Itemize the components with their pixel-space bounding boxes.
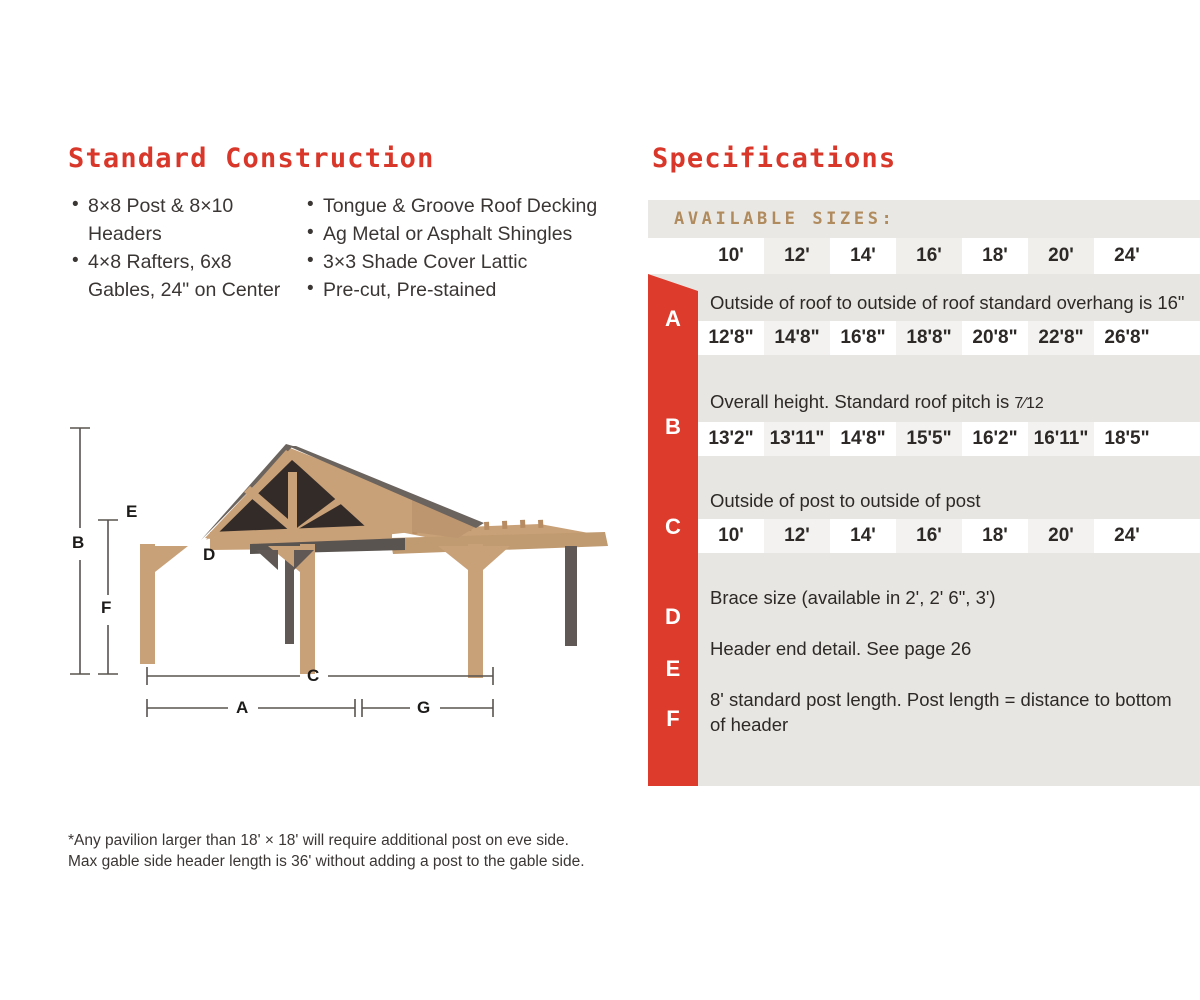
list-item: Tongue & Groove Roof Decking bbox=[305, 192, 625, 220]
row-letter-f: F bbox=[648, 706, 698, 732]
size-header-cell: 20' bbox=[1028, 238, 1094, 274]
row-description-b: Overall height. Standard roof pitch is 7… bbox=[698, 389, 1200, 416]
value-cell: 14' bbox=[830, 519, 896, 553]
available-sizes-label: AVAILABLE SIZES: bbox=[674, 209, 895, 229]
row-description-f: 8' standard post length. Post length = d… bbox=[698, 687, 1200, 737]
value-cell: 26'8" bbox=[1094, 321, 1160, 355]
spec-sheet-page: Standard Construction 8×8 Post & 8×10 He… bbox=[0, 0, 1200, 1000]
value-tail bbox=[1160, 321, 1200, 355]
post-right bbox=[468, 544, 483, 678]
size-header-row: 10' 12' 14' 16' 18' 20' 24' bbox=[648, 238, 1200, 274]
dimension-label-d: D bbox=[203, 545, 215, 565]
post-left bbox=[140, 544, 155, 664]
value-cell: 20'8" bbox=[962, 321, 1028, 355]
value-cell: 22'8" bbox=[1028, 321, 1094, 355]
value-cell: 16'2" bbox=[962, 422, 1028, 456]
value-cell: 16'8" bbox=[830, 321, 896, 355]
value-cell: 18' bbox=[962, 519, 1028, 553]
row-description-c: Outside of post to outside of post bbox=[698, 488, 1200, 513]
construction-list-right: Tongue & Groove Roof Decking Ag Metal or… bbox=[305, 192, 625, 304]
row-description-a: Outside of roof to outside of roof stand… bbox=[698, 290, 1200, 315]
size-header-cell: 14' bbox=[830, 238, 896, 274]
size-header-cell: 16' bbox=[896, 238, 962, 274]
value-tail bbox=[1160, 519, 1200, 553]
size-header-tail bbox=[1160, 238, 1200, 274]
pavilion-drawing-svg bbox=[60, 420, 620, 720]
footnote-line-1: *Any pavilion larger than 18' × 18' will… bbox=[68, 830, 628, 851]
value-cell: 14'8" bbox=[764, 321, 830, 355]
value-cell: 13'11" bbox=[764, 422, 830, 456]
row-values-a: 12'8" 14'8" 16'8" 18'8" 20'8" 22'8" 26'8… bbox=[698, 321, 1200, 355]
value-cell: 12'8" bbox=[698, 321, 764, 355]
dimension-label-a: A bbox=[236, 698, 248, 718]
row-letter-c: C bbox=[648, 514, 698, 540]
lattice-post bbox=[565, 546, 577, 646]
list-item: 8×8 Post & 8×10 Headers bbox=[70, 192, 300, 248]
row-letter-d: D bbox=[648, 604, 698, 630]
specifications-table: AVAILABLE SIZES: 10' 12' 14' 16' 18' 20'… bbox=[648, 200, 1200, 800]
size-header-cell: 10' bbox=[698, 238, 764, 274]
row-letter-spacer bbox=[648, 238, 698, 274]
size-header-cell: 18' bbox=[962, 238, 1028, 274]
pavilion-illustration: B F E D C A G bbox=[60, 420, 620, 720]
footnote: *Any pavilion larger than 18' × 18' will… bbox=[68, 830, 628, 872]
value-cell: 20' bbox=[1028, 519, 1094, 553]
value-tail bbox=[1160, 422, 1200, 456]
list-item: Pre-cut, Pre-stained bbox=[305, 276, 625, 304]
value-cell: 13'2" bbox=[698, 422, 764, 456]
value-cell: 10' bbox=[698, 519, 764, 553]
value-cell: 18'8" bbox=[896, 321, 962, 355]
value-cell: 14'8" bbox=[830, 422, 896, 456]
value-cell: 15'5" bbox=[896, 422, 962, 456]
row-description-e: Header end detail. See page 26 bbox=[698, 636, 1200, 661]
value-cell: 24' bbox=[1094, 519, 1160, 553]
row-values-c: 10' 12' 14' 16' 18' 20' 24' bbox=[698, 519, 1200, 553]
row-values-b: 13'2" 13'11" 14'8" 15'5" 16'2" 16'11" 18… bbox=[698, 422, 1200, 456]
dimension-label-c: C bbox=[307, 666, 319, 686]
value-cell: 16'11" bbox=[1028, 422, 1094, 456]
value-cell: 16' bbox=[896, 519, 962, 553]
row-description-b-text: Overall height. Standard roof pitch is bbox=[710, 391, 1014, 412]
size-header-cell: 24' bbox=[1094, 238, 1160, 274]
value-cell: 18'5" bbox=[1094, 422, 1160, 456]
spec-body: A B C D E F Outside of roof to outside o… bbox=[648, 274, 1200, 786]
dimension-label-e: E bbox=[126, 502, 137, 522]
page-title-specifications: Specifications bbox=[652, 143, 896, 174]
size-header-cell: 12' bbox=[764, 238, 830, 274]
value-cell: 12' bbox=[764, 519, 830, 553]
row-letter-b: B bbox=[648, 414, 698, 440]
roof-pitch-fraction: 7⁄12 bbox=[1014, 395, 1043, 412]
construction-list-left: 8×8 Post & 8×10 Headers 4×8 Rafters, 6x8… bbox=[70, 192, 300, 304]
dimension-lines-horizontal bbox=[147, 667, 493, 717]
dimension-label-b: B bbox=[72, 533, 84, 553]
row-description-d: Brace size (available in 2', 2' 6", 3') bbox=[698, 585, 1200, 610]
list-item: Ag Metal or Asphalt Shingles bbox=[305, 220, 625, 248]
footnote-line-2: Max gable side header length is 36' with… bbox=[68, 851, 628, 872]
row-letter-a: A bbox=[648, 306, 698, 332]
post-center bbox=[300, 544, 315, 674]
page-title-standard-construction: Standard Construction bbox=[68, 143, 435, 174]
dimension-label-f: F bbox=[101, 598, 111, 618]
dimension-label-g: G bbox=[417, 698, 430, 718]
post-back-center bbox=[285, 554, 294, 644]
available-sizes-header: AVAILABLE SIZES: bbox=[648, 200, 1200, 238]
list-item: 3×3 Shade Cover Lattic bbox=[305, 248, 625, 276]
row-letter-e: E bbox=[648, 656, 698, 682]
list-item: 4×8 Rafters, 6x8 Gables, 24" on Center bbox=[70, 248, 300, 304]
